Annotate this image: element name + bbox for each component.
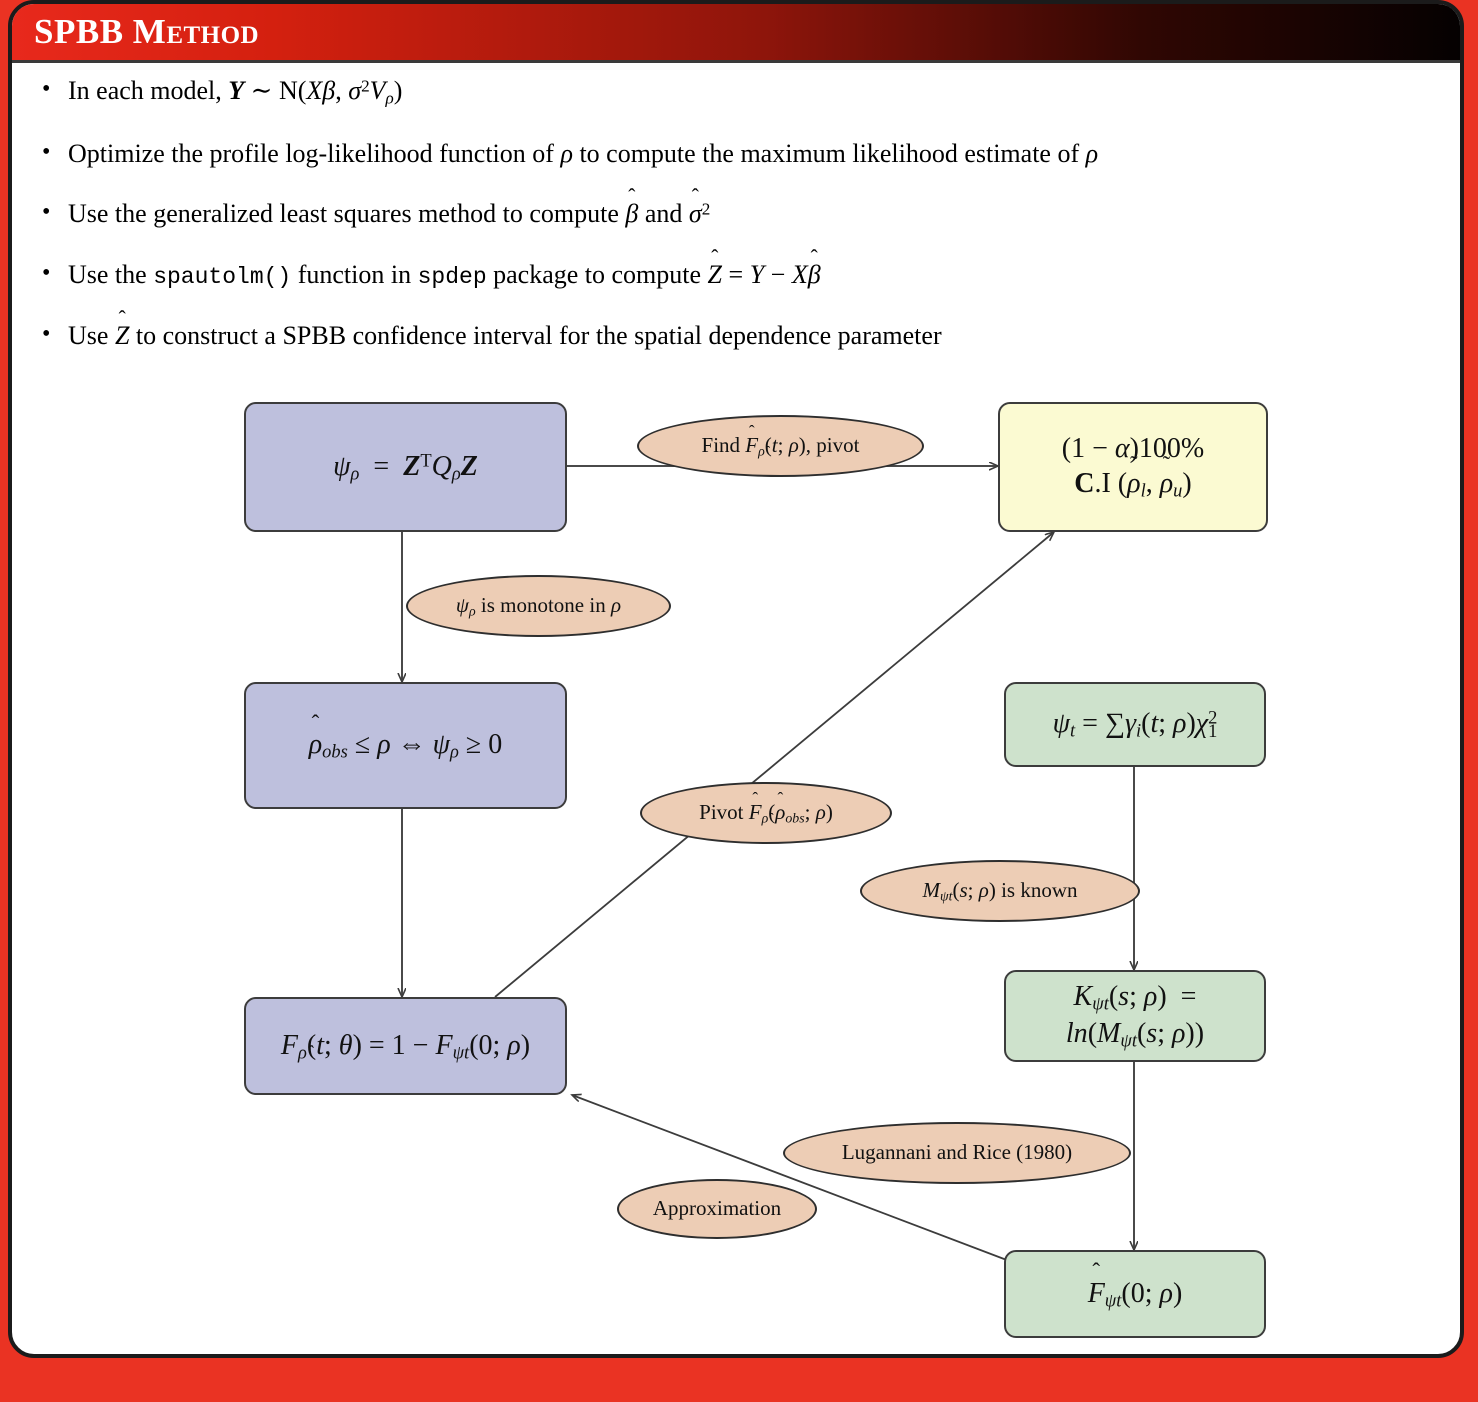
code-spautolm: spautolm() [153,264,291,290]
node-fhat-psit[interactable]: ˆFψt(0; ρ) [1004,1250,1266,1338]
list-item: • Use ˆZ to construct a SPBB confidence … [42,321,1430,352]
edge-label-monotone: ψρ is monotone in ρ [406,575,671,637]
edge-label-mgf-known: Mψt(s; ρ) is known [860,860,1140,922]
list-item: • In each model, Y ∼ N(Xβ, σ2Vρ) [42,76,1430,109]
node-ci-label: (1 − α)100% C.I (˜ρl, ˜ρu) [1062,431,1204,503]
bullet-text: Use ˆZ to construct a SPBB confidence in… [68,321,1430,352]
node-confidence-interval[interactable]: (1 − α)100% C.I (˜ρl, ˜ρu) [998,402,1268,532]
edge-label-lugannani: Lugannani and Rice (1980) [783,1122,1131,1184]
node-psi-t[interactable]: ψt = ∑γi(t; ρ)χ21 [1004,682,1266,767]
bullet-text: In each model, Y ∼ N(Xβ, σ2Vρ) [68,76,1430,109]
node-cgf-label: Kψt(s; ρ) = ln(Mψt(s; ρ)) [1066,979,1204,1052]
code-spdep: spdep [418,264,487,290]
edge-label-lugannani-text: Lugannani and Rice (1980) [842,1141,1072,1164]
edge-label-monotone-text: ψρ is monotone in ρ [456,594,621,619]
node-cgf[interactable]: Kψt(s; ρ) = ln(Mψt(s; ρ)) [1004,970,1266,1062]
slide-frame: SPBB Method • In each model, Y ∼ N(Xβ, σ… [8,0,1464,1358]
list-item: • Use the generalized least squares meth… [42,199,1430,230]
edge-label-pivot: Pivot ˆFρ̂(ˆρobs; ρ) [640,782,892,844]
node-fhat-label: ˆFψt(0; ρ) [1088,1276,1183,1313]
list-item: • Optimize the profile log-likelihood fu… [42,139,1430,170]
edge-label-approximation-text: Approximation [653,1197,781,1220]
bullet-text: Use the spautolm() function in spdep pac… [68,260,1430,291]
node-psi-rho-label: ψρ = ZTQρZ [333,449,478,486]
node-cdf-identity[interactable]: Fρ̂(t; θ) = 1 − Fψt(0; ρ) [244,997,567,1095]
bullet-marker: • [42,76,68,102]
node-psi-t-label: ψt = ∑γi(t; ρ)χ21 [1053,706,1218,743]
list-item: • Use the spautolm() function in spdep p… [42,260,1430,291]
bullet-list: • In each model, Y ∼ N(Xβ, σ2Vρ) • Optim… [12,60,1460,382]
bullet-marker: • [42,260,68,286]
node-cdf-label: Fρ̂(t; θ) = 1 − Fψt(0; ρ) [281,1028,530,1065]
edge-label-approximation: Approximation [617,1179,817,1239]
edge-label-find-pivot-text: Find ˆFρ̂(t; ρ), pivot [702,434,860,459]
node-monotone-label: ˆρobs ≤ ρ ⇔ ψρ ≥ 0 [309,727,503,764]
bullet-marker: • [42,321,68,347]
edge-label-mgf-known-text: Mψt(s; ρ) is known [922,879,1077,904]
node-psi-rho[interactable]: ψρ = ZTQρZ [244,402,567,532]
bullet-text: Use the generalized least squares method… [68,199,1430,230]
spbb-flowchart: ψρ = ZTQρZ (1 − α)100% C.I (˜ρl, ˜ρu) ˆρ… [12,382,1464,1357]
bullet-text: Optimize the profile log-likelihood func… [68,139,1430,170]
bullet-marker: • [42,139,68,165]
edge-label-find-pivot: Find ˆFρ̂(t; ρ), pivot [637,415,924,477]
slide-title-bar: SPBB Method [12,4,1460,63]
node-monotone-equivalence[interactable]: ˆρobs ≤ ρ ⇔ ψρ ≥ 0 [244,682,567,809]
edge-label-pivot-text: Pivot ˆFρ̂(ˆρobs; ρ) [699,801,833,826]
bullet-marker: • [42,199,68,225]
page-title: SPBB Method [12,12,259,52]
